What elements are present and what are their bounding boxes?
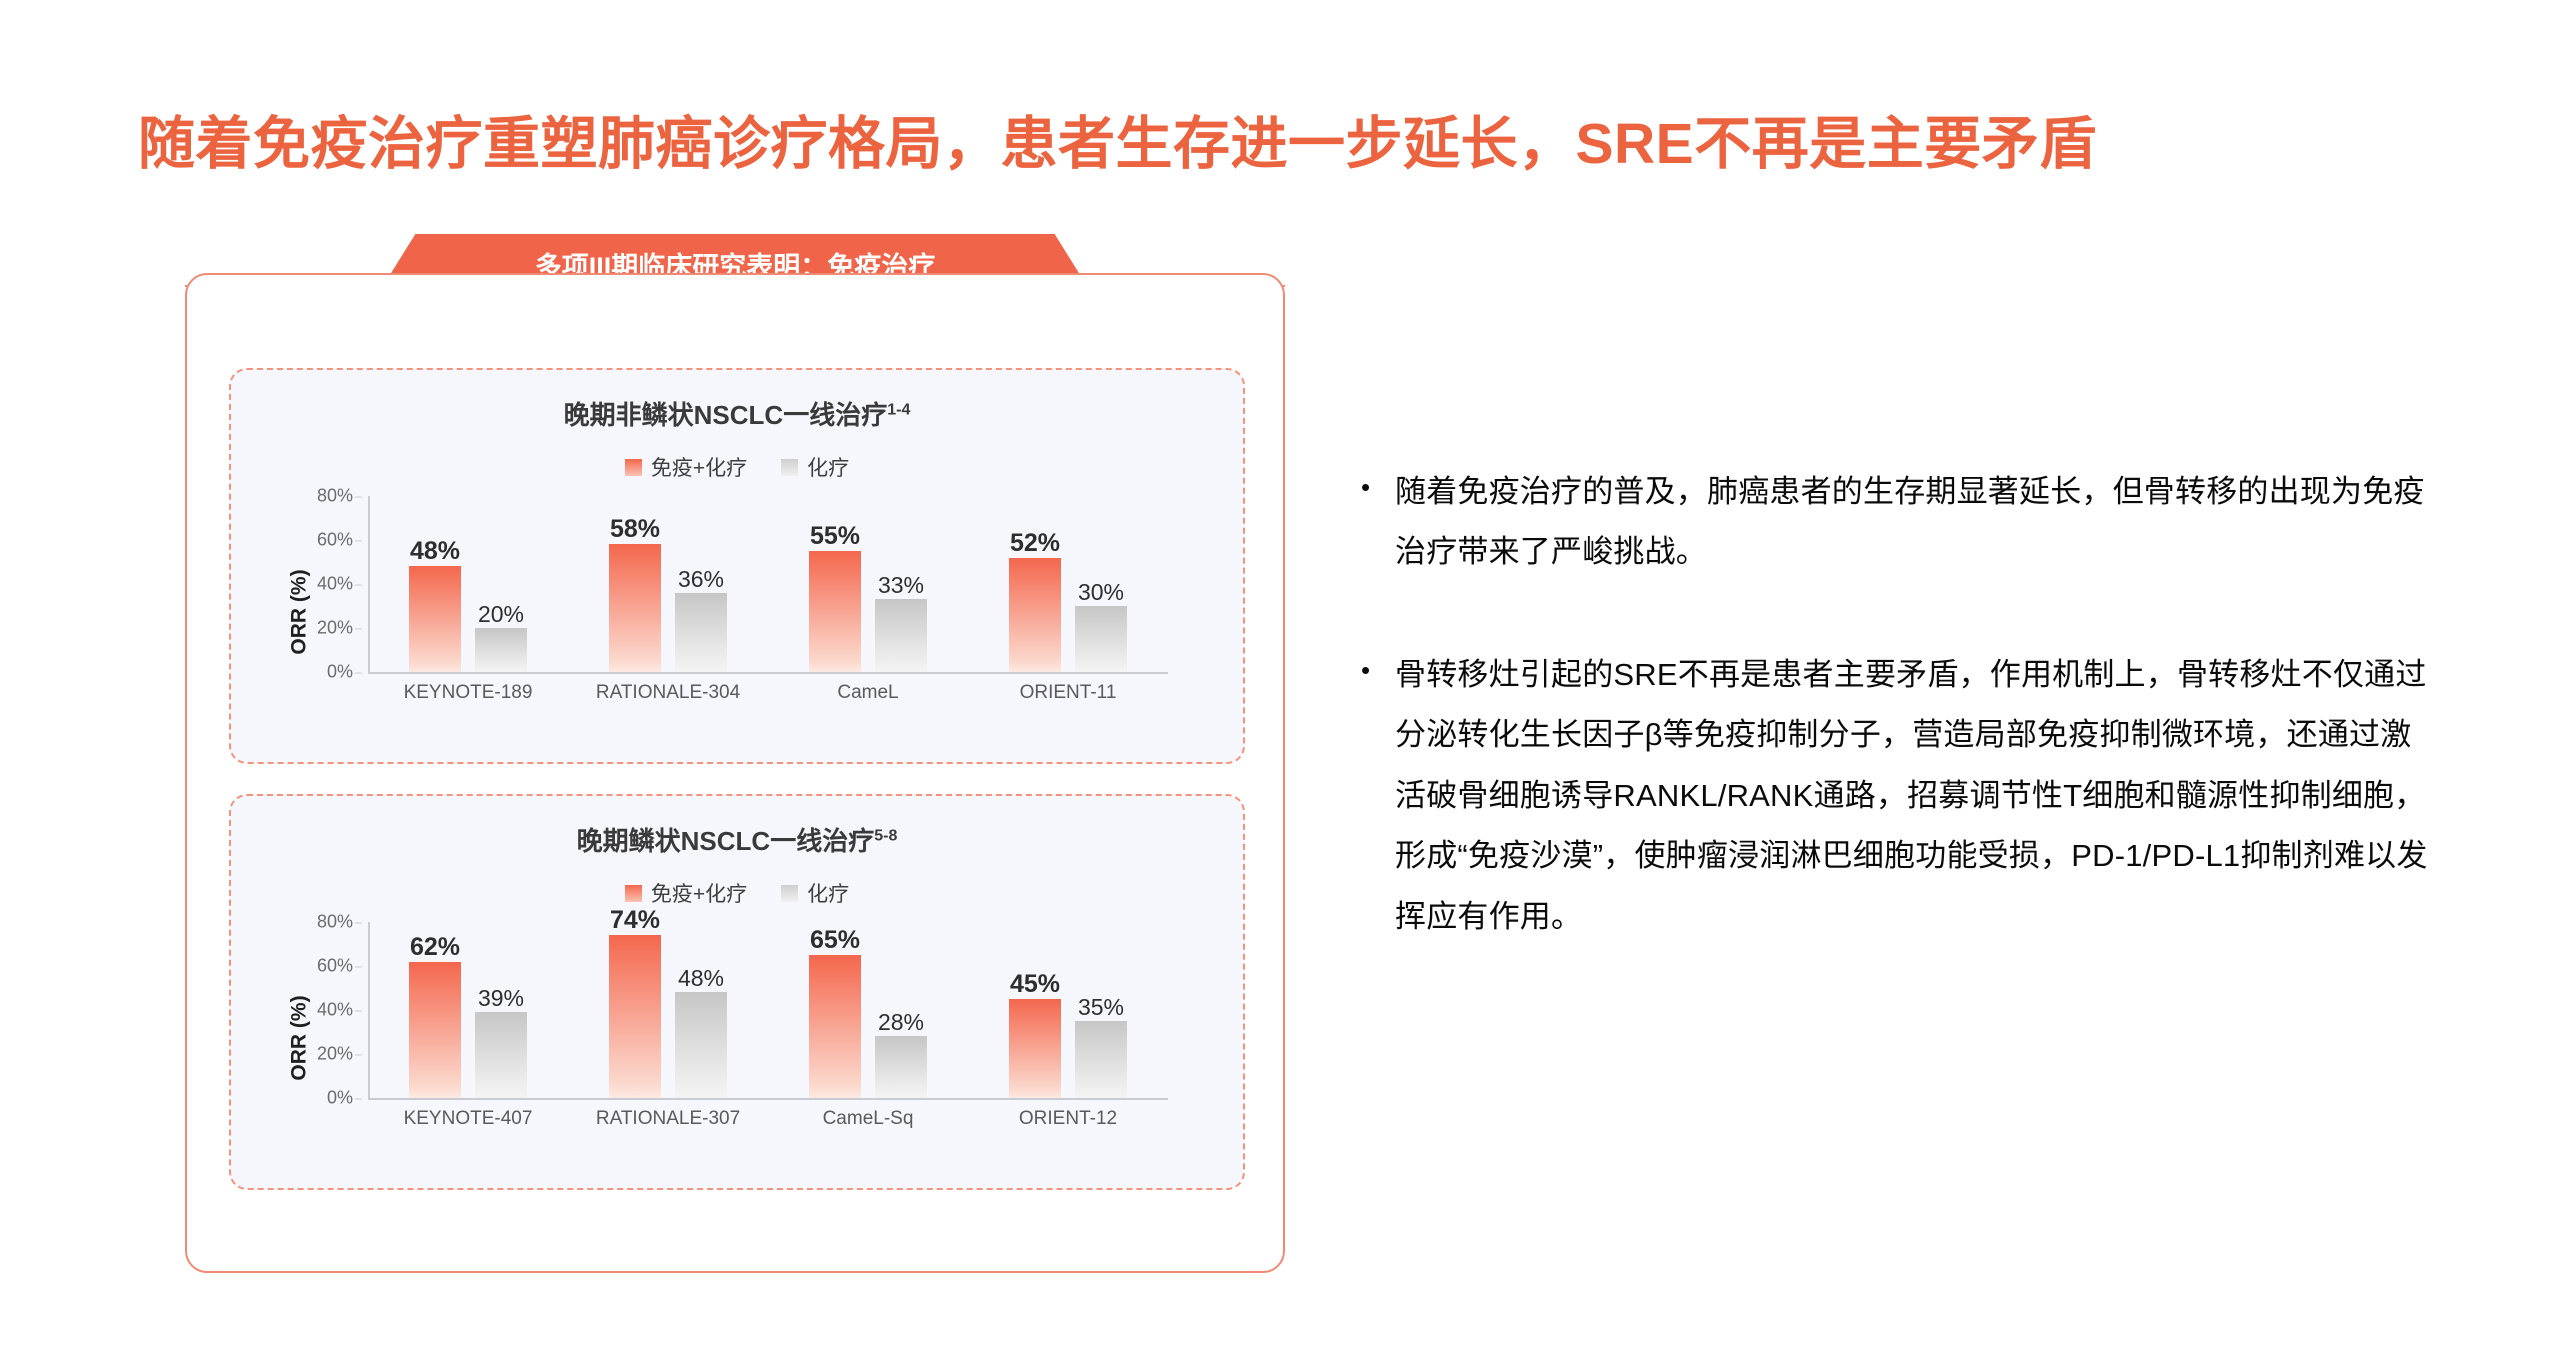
legend-swatch-chemo-icon xyxy=(781,885,798,902)
x-tick-label: CameL-Sq xyxy=(768,1108,968,1130)
legend-item-imm-1: 免疫+化疗 xyxy=(625,452,747,482)
y-tick: 80% xyxy=(317,486,353,507)
bar-column-chemo: 20% xyxy=(475,496,527,672)
bar-imm xyxy=(1009,999,1061,1098)
slide-root: 随着免疫治疗重塑肺癌诊疗格局，患者生存进一步延长，SRE不再是主要矛盾 多项II… xyxy=(0,0,2560,1347)
bar-value: 52% xyxy=(1010,529,1060,558)
bar-column-chemo: 28% xyxy=(875,922,927,1098)
chart-title-1-text: 晚期非鳞状NSCLC一线治疗 xyxy=(564,400,888,430)
y-tick: 20% xyxy=(317,618,353,639)
bar-value: 35% xyxy=(1078,994,1124,1021)
chart-legend-1: 免疫+化疗 化疗 xyxy=(231,452,1243,482)
bar-imm xyxy=(409,566,461,672)
bar-value: 30% xyxy=(1078,579,1124,606)
bar-column-imm: 45% xyxy=(1009,922,1061,1098)
bar-group: 45% 35% xyxy=(968,922,1168,1098)
bar-column-chemo: 48% xyxy=(675,922,727,1098)
bar-value: 28% xyxy=(878,1009,924,1036)
bar-groups-2: 62% 39% 74% 4 xyxy=(368,922,1168,1098)
plot-area-2: ORR (%) 0% 20% 40% 60% 80% 62% xyxy=(231,922,1243,1154)
legend-item-imm-2: 免疫+化疗 xyxy=(625,878,747,908)
bar-group: 65% 28% xyxy=(768,922,968,1098)
page-title: 随着免疫治疗重塑肺癌诊疗格局，患者生存进一步延长，SRE不再是主要矛盾 xyxy=(138,98,2097,180)
bar-value: 65% xyxy=(810,926,860,955)
bar-column-imm: 48% xyxy=(409,496,461,672)
x-axis-line-2 xyxy=(368,1098,1168,1100)
bar-value: 36% xyxy=(678,566,724,593)
bar-column-chemo: 36% xyxy=(675,496,727,672)
bar-value: 48% xyxy=(678,965,724,992)
bar-imm xyxy=(809,551,861,672)
y-tick: 60% xyxy=(317,956,353,977)
legend-item-chemo-2: 化疗 xyxy=(781,878,849,908)
bullet-item: 骨转移灶引起的SRE不再是患者主要矛盾，作用机制上，骨转移灶不仅通过分泌转化生长… xyxy=(1355,645,2440,947)
bar-column-chemo: 30% xyxy=(1075,496,1127,672)
bullet-item: 随着免疫治疗的普及，肺癌患者的生存期显著延长，但骨转移的出现为免疫治疗带来了严峻… xyxy=(1355,462,2440,583)
bar-value: 55% xyxy=(810,522,860,551)
x-tick-label: KEYNOTE-407 xyxy=(368,1108,568,1130)
bar-imm xyxy=(409,962,461,1098)
chart-title-2-refs: 5-8 xyxy=(874,827,897,844)
x-tick-label: KEYNOTE-189 xyxy=(368,682,568,704)
y-axis-ticks-2: 0% 20% 40% 60% 80% xyxy=(289,922,361,1098)
y-tick: 0% xyxy=(327,1088,353,1109)
y-tick: 40% xyxy=(317,1000,353,1021)
bar-column-imm: 58% xyxy=(609,496,661,672)
legend-swatch-imm-icon xyxy=(625,885,642,902)
y-tick: 60% xyxy=(317,530,353,551)
bar-chemo xyxy=(875,1036,927,1098)
x-tick-label: RATIONALE-307 xyxy=(568,1108,768,1130)
bar-group: 55% 33% xyxy=(768,496,968,672)
y-tick: 40% xyxy=(317,574,353,595)
chart-panel-squamous: 晚期鳞状NSCLC一线治疗5-8 免疫+化疗 化疗 ORR (%) 0% 20%… xyxy=(229,794,1245,1190)
bar-value: 45% xyxy=(1010,970,1060,999)
bar-column-chemo: 35% xyxy=(1075,922,1127,1098)
y-tick: 0% xyxy=(327,662,353,683)
legend-swatch-chemo-icon xyxy=(781,459,798,476)
bar-chemo xyxy=(875,599,927,672)
legend-label-chemo-1: 化疗 xyxy=(807,452,849,482)
bar-chemo xyxy=(475,1012,527,1098)
legend-swatch-imm-icon xyxy=(625,459,642,476)
bar-imm xyxy=(809,955,861,1098)
bar-value: 58% xyxy=(610,515,660,544)
bar-imm xyxy=(609,544,661,672)
bar-column-chemo: 39% xyxy=(475,922,527,1098)
chart-title-1: 晚期非鳞状NSCLC一线治疗1-4 xyxy=(231,395,1243,432)
y-tick: 20% xyxy=(317,1044,353,1065)
y-axis-ticks-1: 0% 20% 40% 60% 80% xyxy=(289,496,361,672)
x-tick-label: RATIONALE-304 xyxy=(568,682,768,704)
chart-title-2: 晚期鳞状NSCLC一线治疗5-8 xyxy=(231,821,1243,858)
bar-group: 52% 30% xyxy=(968,496,1168,672)
bar-column-chemo: 33% xyxy=(875,496,927,672)
bar-imm xyxy=(1009,558,1061,672)
bullet-list: 随着免疫治疗的普及，肺癌患者的生存期显著延长，但骨转移的出现为免疫治疗带来了严峻… xyxy=(1355,462,2440,947)
bar-groups-1: 48% 20% 58% 3 xyxy=(368,496,1168,672)
bar-column-imm: 52% xyxy=(1009,496,1061,672)
bar-chemo xyxy=(675,992,727,1098)
legend-item-chemo-1: 化疗 xyxy=(781,452,849,482)
x-axis-labels-1: KEYNOTE-189 RATIONALE-304 CameL ORIENT-1… xyxy=(368,682,1168,704)
bar-chemo xyxy=(475,628,527,672)
x-axis-labels-2: KEYNOTE-407 RATIONALE-307 CameL-Sq ORIEN… xyxy=(368,1108,1168,1130)
plot-area-1: ORR (%) 0% 20% 40% 60% 80% 48% xyxy=(231,496,1243,728)
bar-value: 20% xyxy=(478,601,524,628)
bar-group: 48% 20% xyxy=(368,496,568,672)
chart-panel-nonsquamous: 晚期非鳞状NSCLC一线治疗1-4 免疫+化疗 化疗 ORR (%) 0% 20… xyxy=(229,368,1245,764)
y-tick: 80% xyxy=(317,912,353,933)
bar-chemo xyxy=(1075,606,1127,672)
bar-group: 58% 36% xyxy=(568,496,768,672)
bar-chemo xyxy=(1075,1021,1127,1098)
bar-column-imm: 74% xyxy=(609,922,661,1098)
x-axis-line-1 xyxy=(368,672,1168,674)
bar-column-imm: 62% xyxy=(409,922,461,1098)
bar-column-imm: 55% xyxy=(809,496,861,672)
chart-title-2-text: 晚期鳞状NSCLC一线治疗 xyxy=(577,826,875,856)
bar-value: 48% xyxy=(410,537,460,566)
legend-label-imm-1: 免疫+化疗 xyxy=(651,452,747,482)
legend-label-imm-2: 免疫+化疗 xyxy=(651,878,747,908)
bar-group: 74% 48% xyxy=(568,922,768,1098)
bar-value: 39% xyxy=(478,985,524,1012)
chart-legend-2: 免疫+化疗 化疗 xyxy=(231,878,1243,908)
bar-chemo xyxy=(675,593,727,672)
bar-value: 33% xyxy=(878,572,924,599)
bar-group: 62% 39% xyxy=(368,922,568,1098)
bar-imm xyxy=(609,935,661,1098)
bar-value: 62% xyxy=(410,933,460,962)
bar-column-imm: 65% xyxy=(809,922,861,1098)
chart-title-1-refs: 1-4 xyxy=(887,401,910,418)
charts-card: 晚期非鳞状NSCLC一线治疗1-4 免疫+化疗 化疗 ORR (%) 0% 20… xyxy=(185,273,1285,1273)
x-tick-label: ORIENT-12 xyxy=(968,1108,1168,1130)
x-tick-label: ORIENT-11 xyxy=(968,682,1168,704)
bar-value: 74% xyxy=(610,906,660,935)
x-tick-label: CameL xyxy=(768,682,968,704)
legend-label-chemo-2: 化疗 xyxy=(807,878,849,908)
